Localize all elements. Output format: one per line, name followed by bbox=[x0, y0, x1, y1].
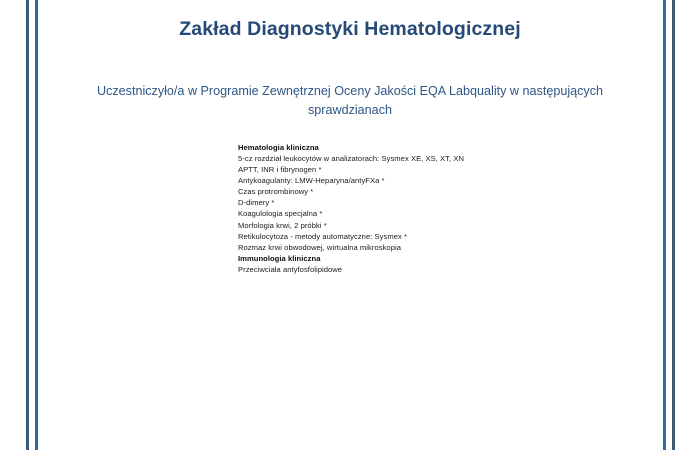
scheme-item: 5-cz rozdział leukocytów w analizatorach… bbox=[238, 153, 618, 164]
scheme-list: Hematologia kliniczna5-cz rozdział leuko… bbox=[238, 142, 618, 275]
right-inner-vertical-rule bbox=[663, 0, 666, 450]
left-inner-vertical-rule bbox=[35, 0, 38, 450]
page-title: Zakład Diagnostyki Hematologicznej bbox=[45, 18, 655, 41]
scheme-item: Rozmaz krwi obwodowej, wirtualna mikrosk… bbox=[238, 242, 618, 253]
scheme-item: Retikulocytoza - metody automatyczne: Sy… bbox=[238, 231, 618, 242]
scheme-item: Antykoagulanty: LMW-Heparyna/antyFXa * bbox=[238, 175, 618, 186]
scheme-category-heading: Hematologia kliniczna bbox=[238, 142, 618, 153]
scheme-category-heading: Immunologia kliniczna bbox=[238, 253, 618, 264]
scheme-item: Przeciwciała antyfosfolipidowe bbox=[238, 264, 618, 275]
certificate-page: Zakład Diagnostyki Hematologicznej Uczes… bbox=[0, 0, 700, 450]
certificate-content: Zakład Diagnostyki Hematologicznej Uczes… bbox=[45, 0, 655, 450]
right-outer-vertical-rule bbox=[672, 0, 675, 450]
scheme-item: D-dimery * bbox=[238, 197, 618, 208]
participation-statement: Uczestniczyło/a w Programie Zewnętrznej … bbox=[45, 82, 655, 119]
scheme-item: Morfologia krwi, 2 próbki * bbox=[238, 220, 618, 231]
left-outer-vertical-rule bbox=[26, 0, 29, 450]
scheme-item: Koagulologia specjalna * bbox=[238, 208, 618, 219]
scheme-item: APTT, INR i fibrynogen * bbox=[238, 164, 618, 175]
scheme-item: Czas protrombinowy * bbox=[238, 186, 618, 197]
